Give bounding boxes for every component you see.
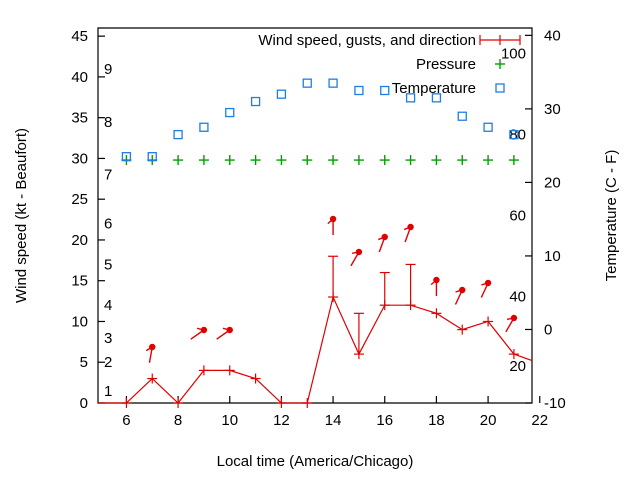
wind-direction-arrow xyxy=(146,344,155,363)
beaufort-label: 9 xyxy=(104,61,112,78)
x-tick-label: 22 xyxy=(531,412,548,429)
temperature-point xyxy=(303,79,311,87)
beaufort-label: 4 xyxy=(104,297,112,314)
beaufort-label: 2 xyxy=(104,354,112,371)
x-tick-label: 20 xyxy=(480,412,497,429)
y2-tick-label-c: 10 xyxy=(544,248,561,265)
x-tick-label: 8 xyxy=(174,412,182,429)
fahrenheit-label: 100 xyxy=(501,46,526,63)
fahrenheit-label: 60 xyxy=(509,208,526,225)
beaufort-label: 5 xyxy=(104,256,112,273)
temperature-point xyxy=(458,112,466,120)
x-tick-label: 16 xyxy=(376,412,393,429)
y2-tick-label-c: 30 xyxy=(544,101,561,118)
beaufort-label: 8 xyxy=(104,114,112,131)
wind-direction-arrow xyxy=(217,327,233,339)
beaufort-label: 6 xyxy=(104,216,112,233)
x-tick-label: 14 xyxy=(325,412,342,429)
y2-axis-title: Temperature (C - F) xyxy=(603,150,620,282)
legend-label-plus: Pressure xyxy=(416,56,476,73)
y-tick-label-kt: 15 xyxy=(71,273,88,290)
x-tick-label: 10 xyxy=(221,412,238,429)
temperature-point xyxy=(200,123,208,131)
wind-direction-arrow xyxy=(404,224,414,242)
y2-tick-label-c: 0 xyxy=(544,321,552,338)
wind-direction-arrow xyxy=(191,327,207,339)
y2-tick-label-c: 40 xyxy=(544,27,561,44)
wind-direction-arrow xyxy=(378,234,388,252)
legend-marker-temperature xyxy=(496,84,504,92)
temperature-point xyxy=(381,87,389,95)
wind-speed-line xyxy=(126,297,532,403)
y-tick-label-kt: 10 xyxy=(71,313,88,330)
weather-chart: 6810121416182022Local time (America/Chic… xyxy=(0,0,640,480)
y-tick-label-kt: 40 xyxy=(71,69,88,86)
x-tick-label: 12 xyxy=(273,412,290,429)
wind-direction-arrow xyxy=(481,280,491,298)
temperature-point xyxy=(174,131,182,139)
temperature-point xyxy=(355,87,363,95)
temperature-point xyxy=(277,90,285,98)
y-axis-title: Wind speed (kt - Beaufort) xyxy=(13,128,30,303)
beaufort-label: 1 xyxy=(104,383,112,400)
wind-direction-arrow xyxy=(431,277,439,296)
legend-label-errorbar: Wind speed, gusts, and direction xyxy=(258,32,476,49)
y-tick-label-kt: 45 xyxy=(71,28,88,45)
x-axis-title: Local time (America/Chicago) xyxy=(217,453,414,470)
wind-direction-arrow xyxy=(351,249,362,266)
wind-direction-arrow xyxy=(328,216,336,235)
y-tick-label-kt: 30 xyxy=(71,150,88,167)
x-tick-label: 6 xyxy=(122,412,130,429)
x-tick-label: 18 xyxy=(428,412,445,429)
y2-tick-label-c: -10 xyxy=(544,395,566,412)
beaufort-label: 7 xyxy=(104,167,112,184)
beaufort-label: 3 xyxy=(104,330,112,347)
y2-tick-label-c: 20 xyxy=(544,174,561,191)
wind-direction-arrow xyxy=(506,315,517,332)
y-tick-label-kt: 5 xyxy=(80,354,88,371)
fahrenheit-label: 40 xyxy=(509,288,526,305)
y-tick-label-kt: 35 xyxy=(71,110,88,127)
fahrenheit-label: 20 xyxy=(509,358,526,375)
y-tick-label-kt: 25 xyxy=(71,191,88,208)
temperature-point xyxy=(226,109,234,117)
temperature-point xyxy=(329,79,337,87)
temperature-point xyxy=(484,123,492,131)
y-tick-label-kt: 0 xyxy=(80,395,88,412)
wind-direction-arrow xyxy=(455,287,465,305)
legend-label-square: Temperature xyxy=(392,80,476,97)
y-tick-label-kt: 20 xyxy=(71,232,88,249)
chart-canvas: 6810121416182022Local time (America/Chic… xyxy=(0,0,640,480)
temperature-point xyxy=(252,98,260,106)
